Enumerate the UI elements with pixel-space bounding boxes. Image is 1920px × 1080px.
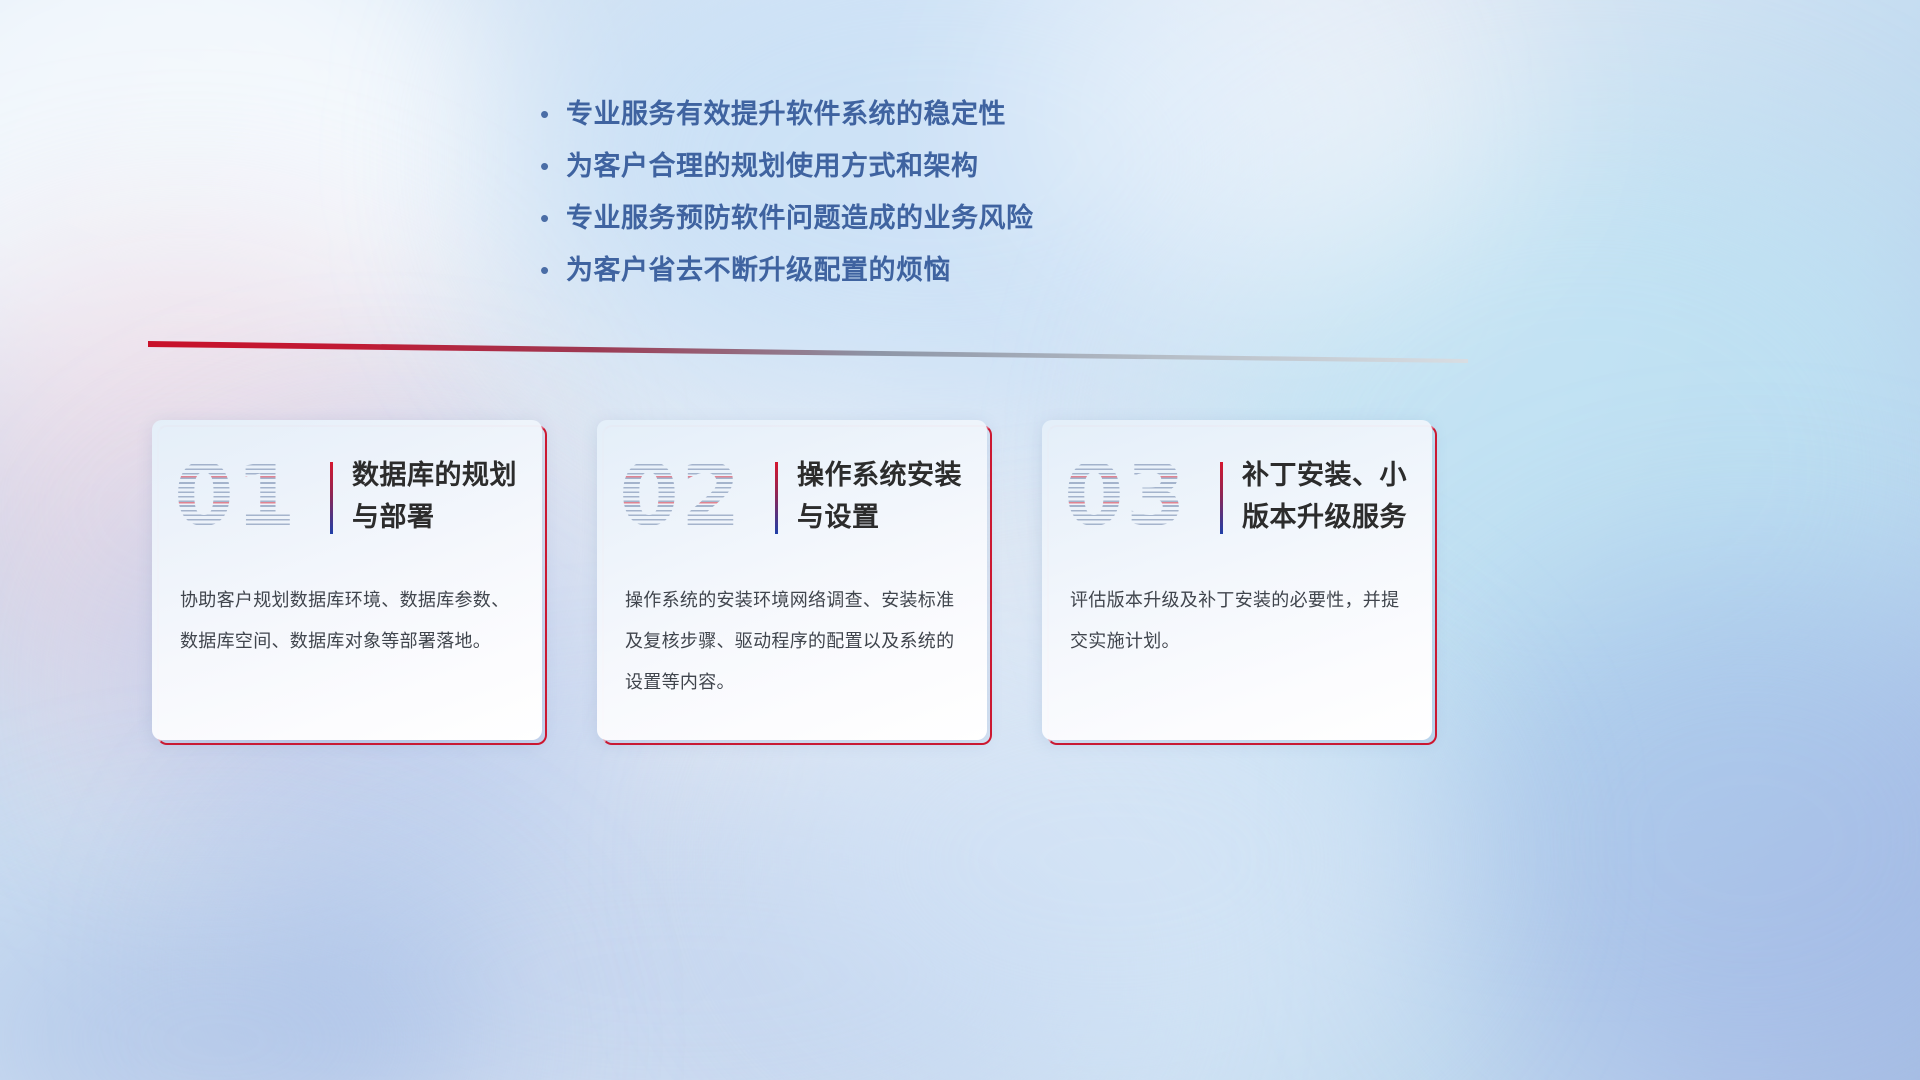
bullet-text: 为客户合理的规划使用方式和架构 [566, 140, 979, 192]
card-title: 操作系统安装与设置 [797, 454, 973, 538]
card-accent-bar [1220, 462, 1223, 534]
bullet-dot-icon: • [540, 192, 566, 244]
bullet-item: • 专业服务预防软件问题造成的业务风险 [540, 192, 1240, 244]
service-card[interactable]: 03 03 补丁安装、小版本升级服务 评估版本升级及补丁安装的必要性，并提交实施… [1042, 420, 1432, 740]
card-number-watermark-tint: 03 [1064, 450, 1194, 542]
card-accent-bar [775, 462, 778, 534]
card-accent-bar [330, 462, 333, 534]
card-surface: 03 03 补丁安装、小版本升级服务 评估版本升级及补丁安装的必要性，并提交实施… [1042, 420, 1432, 740]
bullet-text: 专业服务预防软件问题造成的业务风险 [566, 192, 1034, 244]
card-description: 操作系统的安装环境网络调查、安装标准及复核步骤、驱动程序的配置以及系统的设置等内… [625, 580, 965, 703]
bullet-text: 专业服务有效提升软件系统的稳定性 [566, 88, 1006, 140]
bullet-item: • 专业服务有效提升软件系统的稳定性 [540, 88, 1240, 140]
card-description: 协助客户规划数据库环境、数据库参数、数据库空间、数据库对象等部署落地。 [180, 580, 520, 662]
card-description: 评估版本升级及补丁安装的必要性，并提交实施计划。 [1070, 580, 1410, 662]
card-surface: 02 02 操作系统安装与设置 操作系统的安装环境网络调查、安装标准及复核步骤、… [597, 420, 987, 740]
bullet-item: • 为客户省去不断升级配置的烦恼 [540, 244, 1240, 296]
benefits-bullet-list: • 专业服务有效提升软件系统的稳定性 • 为客户合理的规划使用方式和架构 • 专… [540, 88, 1240, 296]
card-number-watermark-tint: 02 [619, 450, 749, 542]
divider-swoosh-icon [148, 338, 1468, 364]
bullet-dot-icon: • [540, 88, 566, 140]
service-card[interactable]: 01 01 数据库的规划与部署 协助客户规划数据库环境、数据库参数、数据库空间、… [152, 420, 542, 740]
bullet-item: • 为客户合理的规划使用方式和架构 [540, 140, 1240, 192]
bullet-dot-icon: • [540, 140, 566, 192]
card-surface: 01 01 数据库的规划与部署 协助客户规划数据库环境、数据库参数、数据库空间、… [152, 420, 542, 740]
bullet-text: 为客户省去不断升级配置的烦恼 [566, 244, 951, 296]
service-card-list: 01 01 数据库的规划与部署 协助客户规划数据库环境、数据库参数、数据库空间、… [152, 420, 1768, 745]
section-divider [148, 338, 1468, 364]
bullet-dot-icon: • [540, 244, 566, 296]
card-title: 补丁安装、小版本升级服务 [1242, 454, 1418, 538]
card-title: 数据库的规划与部署 [352, 454, 528, 538]
card-number-watermark-tint: 01 [174, 450, 304, 542]
service-card[interactable]: 02 02 操作系统安装与设置 操作系统的安装环境网络调查、安装标准及复核步骤、… [597, 420, 987, 740]
